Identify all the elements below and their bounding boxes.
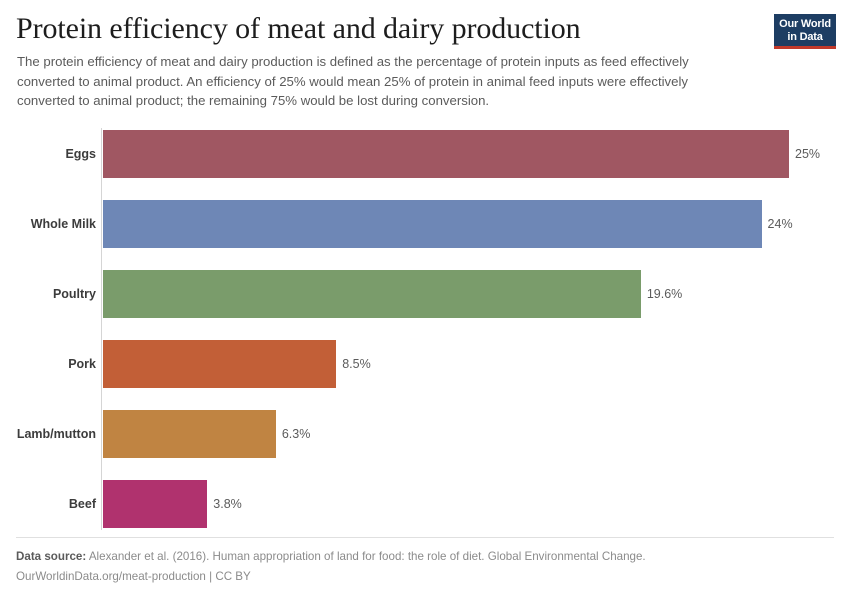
- logo-line-1: Our World: [779, 18, 831, 31]
- bar-category-label: Eggs: [0, 130, 96, 178]
- bar-category-label: Lamb/mutton: [0, 410, 96, 458]
- bar[interactable]: [103, 480, 207, 528]
- bar-row: Poultry19.6%: [0, 270, 850, 318]
- logo-line-2: in Data: [779, 31, 831, 44]
- bar-value-label: 8.5%: [342, 340, 371, 388]
- bar-chart-plot-area: Eggs25%Whole Milk24%Poultry19.6%Pork8.5%…: [0, 120, 850, 535]
- data-source-label: Data source:: [16, 550, 86, 563]
- bar-row: Pork8.5%: [0, 340, 850, 388]
- bar-value-label: 25%: [795, 130, 820, 178]
- chart-subtitle: The protein efficiency of meat and dairy…: [17, 52, 747, 111]
- bar[interactable]: [103, 410, 276, 458]
- bar[interactable]: [103, 340, 336, 388]
- bar[interactable]: [103, 130, 789, 178]
- bar-row: Beef3.8%: [0, 480, 850, 528]
- attribution-line[interactable]: OurWorldinData.org/meat-production | CC …: [16, 570, 251, 583]
- bar[interactable]: [103, 200, 762, 248]
- y-axis-line: [101, 128, 102, 530]
- our-world-in-data-logo[interactable]: Our World in Data: [774, 14, 836, 49]
- footer-divider: [16, 537, 834, 538]
- bar-value-label: 6.3%: [282, 410, 311, 458]
- data-source-line: Data source: Alexander et al. (2016). Hu…: [16, 550, 646, 563]
- bar[interactable]: [103, 270, 641, 318]
- bar-value-label: 3.8%: [213, 480, 242, 528]
- bar-row: Whole Milk24%: [0, 200, 850, 248]
- bar-row: Lamb/mutton6.3%: [0, 410, 850, 458]
- bar-category-label: Poultry: [0, 270, 96, 318]
- bar-category-label: Beef: [0, 480, 96, 528]
- page-title: Protein efficiency of meat and dairy pro…: [16, 12, 581, 46]
- bar-category-label: Pork: [0, 340, 96, 388]
- bar-row: Eggs25%: [0, 130, 850, 178]
- bar-category-label: Whole Milk: [0, 200, 96, 248]
- bar-value-label: 24%: [768, 200, 793, 248]
- data-source-citation: Alexander et al. (2016). Human appropria…: [86, 550, 645, 563]
- bar-value-label: 19.6%: [647, 270, 682, 318]
- chart-header: Protein efficiency of meat and dairy pro…: [0, 0, 850, 120]
